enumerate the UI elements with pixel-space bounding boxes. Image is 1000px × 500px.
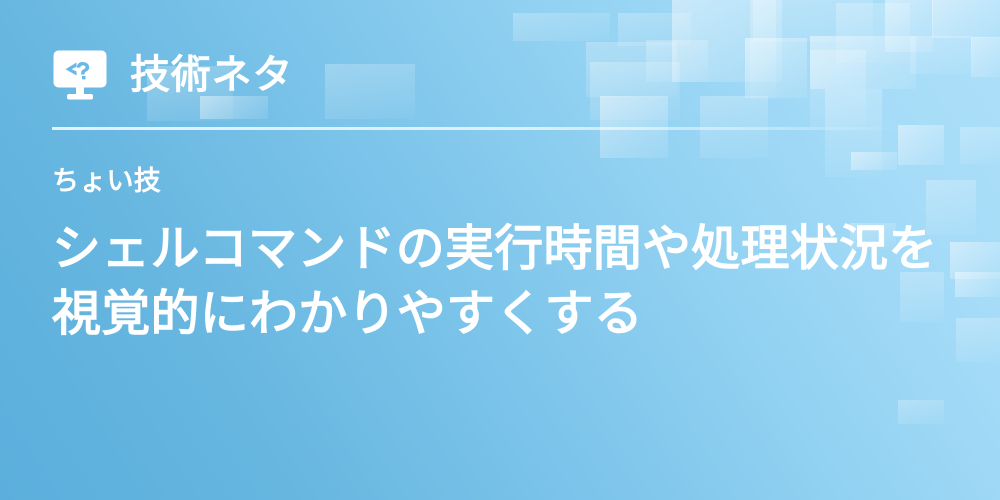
article-title: シェルコマンドの実行時間や処理状況を 視覚的にわかりやすくする [52,217,948,347]
header-divider [52,127,900,130]
card-content: 技術ネタ ちょい技 シェルコマンドの実行時間や処理状況を 視覚的にわかりやすくす… [0,0,1000,500]
category-header: 技術ネタ [52,44,948,106]
article-hero-card: 技術ネタ ちょい技 シェルコマンドの実行時間や処理状況を 視覚的にわかりやすくす… [0,0,1000,500]
article-title-line-2: 視覚的にわかりやすくする [52,282,948,347]
article-title-line-1: シェルコマンドの実行時間や処理状況を [52,217,948,282]
article-eyebrow: ちょい技 [52,168,948,195]
category-label: 技術ネタ [130,55,293,95]
monitor-code-icon [52,49,108,101]
